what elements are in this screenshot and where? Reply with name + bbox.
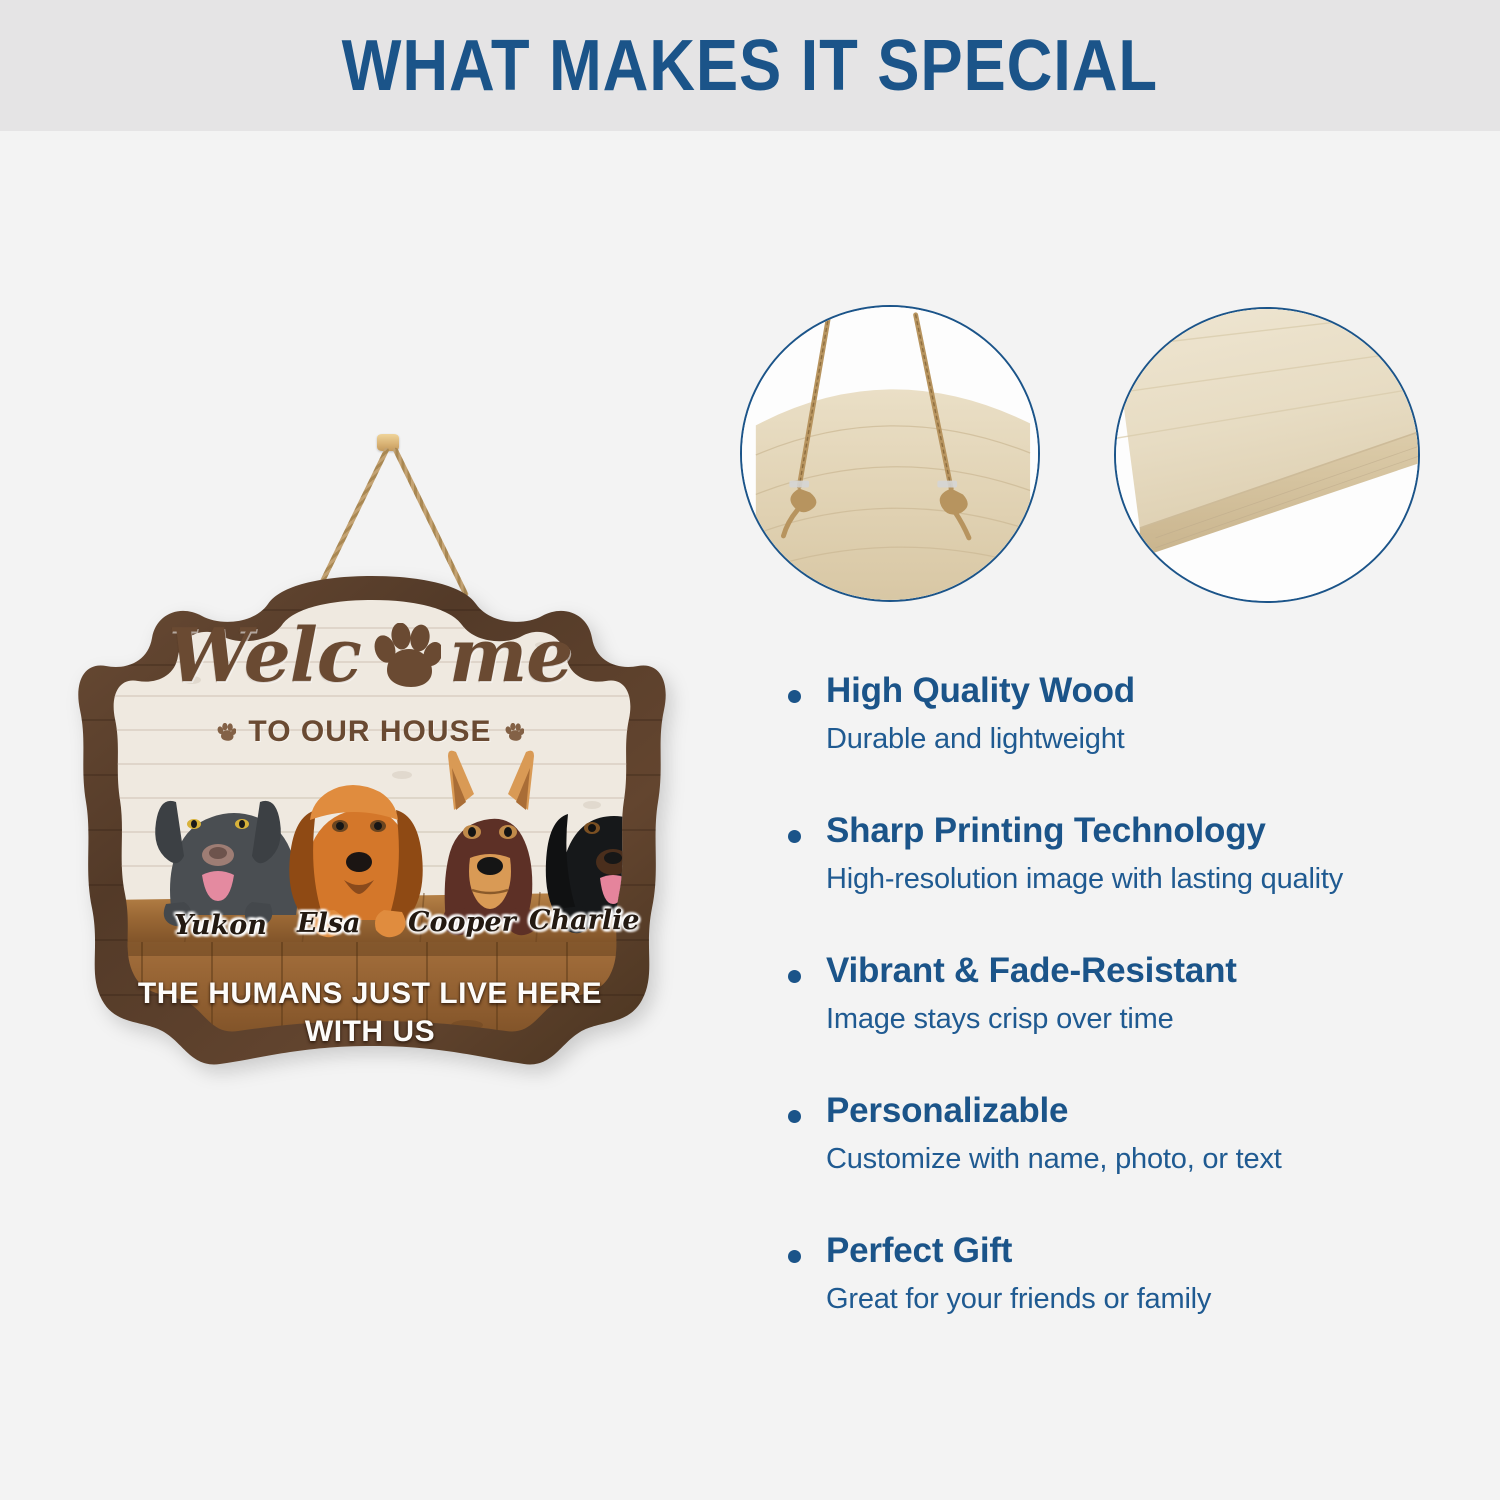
dog-name-elsa: Elsa — [297, 908, 361, 939]
dog-name-cooper: Cooper — [408, 907, 516, 938]
bullet-icon — [788, 690, 801, 703]
page-title: WHAT MAKES IT SPECIAL — [342, 25, 1158, 107]
feature-title: Personalizable — [826, 1092, 1450, 1131]
dog-name-yukon: Yukon — [174, 910, 267, 941]
feature-title: Perfect Gift — [826, 1232, 1450, 1271]
feature-title: Vibrant & Fade-Resistant — [826, 952, 1450, 991]
feature-description: Great for your friends or family — [826, 1283, 1450, 1316]
feature-title: Sharp Printing Technology — [826, 812, 1450, 851]
page-header: WHAT MAKES IT SPECIAL — [0, 0, 1500, 131]
rope-hanger-detail-circle — [740, 305, 1040, 602]
feature-description: High-resolution image with lasting quali… — [826, 863, 1450, 896]
feature-list: High Quality Wood Durable and lightweigh… — [780, 672, 1450, 1372]
bullet-icon — [788, 1110, 801, 1123]
wooden-plaque — [72, 570, 672, 1075]
feature-item-vibrant-fade-resistant: Vibrant & Fade-Resistant Image stays cri… — [780, 952, 1450, 1092]
dog-yukon — [155, 801, 298, 926]
feature-item-personalizable: Personalizable Customize with name, phot… — [780, 1092, 1450, 1232]
bullet-icon — [788, 1250, 801, 1263]
feature-title: High Quality Wood — [826, 672, 1450, 711]
bullet-icon — [788, 970, 801, 983]
feature-description: Customize with name, photo, or text — [826, 1143, 1450, 1176]
feature-item-perfect-gift: Perfect Gift Great for your friends or f… — [780, 1232, 1450, 1372]
feature-description: Durable and lightweight — [826, 723, 1450, 756]
feature-description: Image stays crisp over time — [826, 1003, 1450, 1036]
feature-item-sharp-printing-technology: Sharp Printing Technology High-resolutio… — [780, 812, 1450, 952]
feature-item-high-quality-wood: High Quality Wood Durable and lightweigh… — [780, 672, 1450, 812]
dog-name-charlie: Charlie — [529, 905, 640, 936]
wood-edge-detail-circle — [1114, 307, 1420, 603]
bullet-icon — [788, 830, 801, 843]
